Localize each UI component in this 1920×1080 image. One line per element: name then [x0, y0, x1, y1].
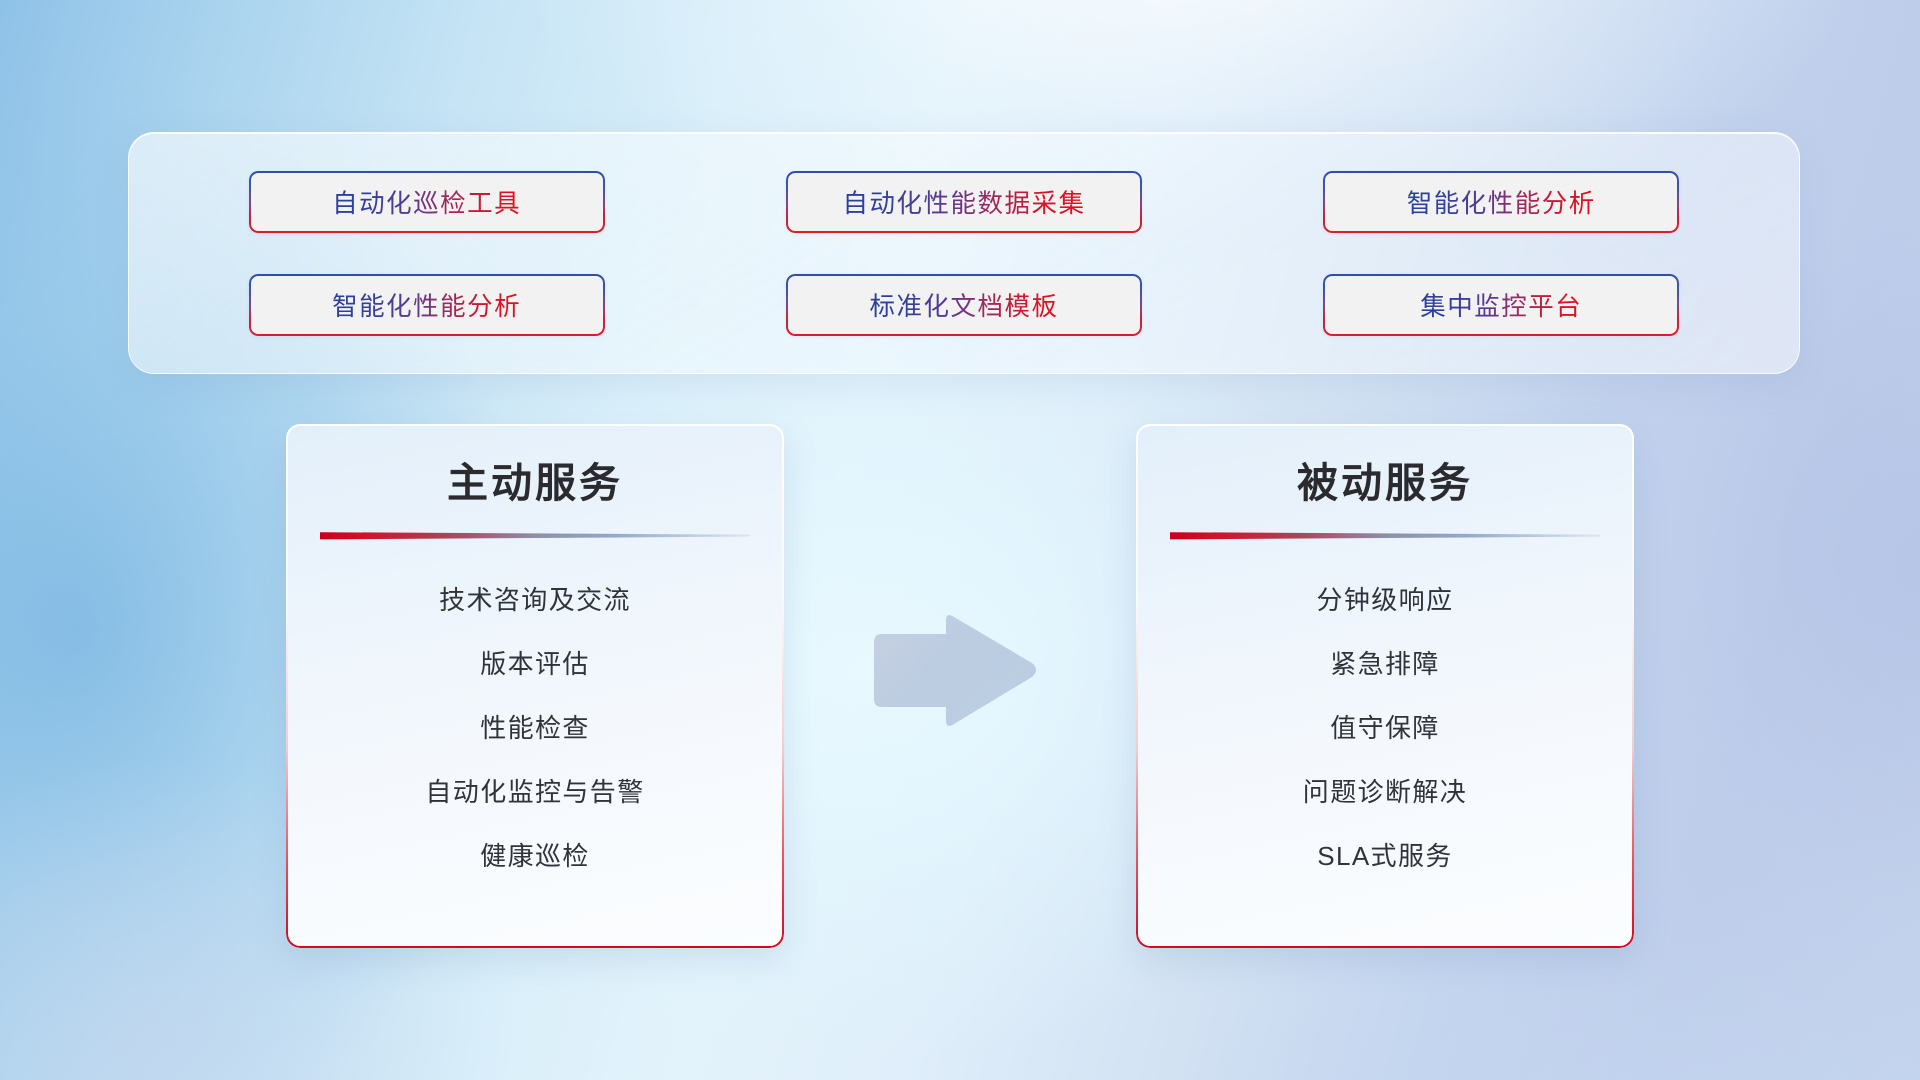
capability-pill-label: 自动化巡检工具	[332, 183, 521, 220]
card-title: 被动服务	[1297, 458, 1473, 508]
capability-pill-3[interactable]: 智能化性能分析	[1323, 171, 1679, 233]
service-list-item: 紧急排障	[1170, 632, 1600, 696]
capability-pill-5[interactable]: 标准化文档模板	[786, 274, 1142, 336]
service-list-item: 问题诊断解决	[1170, 760, 1600, 824]
capability-pill-label: 自动化性能数据采集	[842, 183, 1085, 220]
capability-pill-label: 智能化性能分析	[332, 286, 521, 323]
service-list-item: SLA式服务	[1170, 824, 1600, 888]
service-card-active: 主动服务	[286, 424, 784, 948]
capability-pill-1[interactable]: 自动化巡检工具	[249, 171, 605, 233]
service-list-item: 版本评估	[320, 632, 750, 696]
card-title: 主动服务	[447, 458, 623, 508]
service-card-passive: 被动服务	[1136, 424, 1634, 948]
service-item-list: 技术咨询及交流 版本评估 性能检查 自动化监控与告警 健康巡检	[320, 568, 750, 888]
capability-pill-4[interactable]: 智能化性能分析	[249, 274, 605, 336]
service-list-item: 分钟级响应	[1170, 568, 1600, 632]
service-list-item: 健康巡检	[320, 824, 750, 888]
service-list-item: 自动化监控与告警	[320, 760, 750, 824]
slide-canvas: 自动化巡检工具 自动化性能数据采集 智能化性能分析 智能化性能分析 标准化文档模…	[0, 0, 1920, 1080]
card-divider	[320, 530, 750, 542]
service-list-item: 值守保障	[1170, 696, 1600, 760]
capability-pill-label: 标准化文档模板	[869, 286, 1058, 323]
service-list-item: 性能检查	[320, 696, 750, 760]
capability-pill-6[interactable]: 集中监控平台	[1323, 274, 1679, 336]
card-divider	[1170, 530, 1600, 542]
service-list-item: 技术咨询及交流	[320, 568, 750, 632]
capability-pill-2[interactable]: 自动化性能数据采集	[786, 171, 1142, 233]
capability-panel: 自动化巡检工具 自动化性能数据采集 智能化性能分析 智能化性能分析 标准化文档模…	[128, 132, 1800, 374]
arrow-right-icon	[866, 612, 1040, 730]
capability-pill-label: 智能化性能分析	[1407, 183, 1596, 220]
capability-pill-label: 集中监控平台	[1420, 286, 1582, 323]
service-item-list: 分钟级响应 紧急排障 值守保障 问题诊断解决 SLA式服务	[1170, 568, 1600, 888]
